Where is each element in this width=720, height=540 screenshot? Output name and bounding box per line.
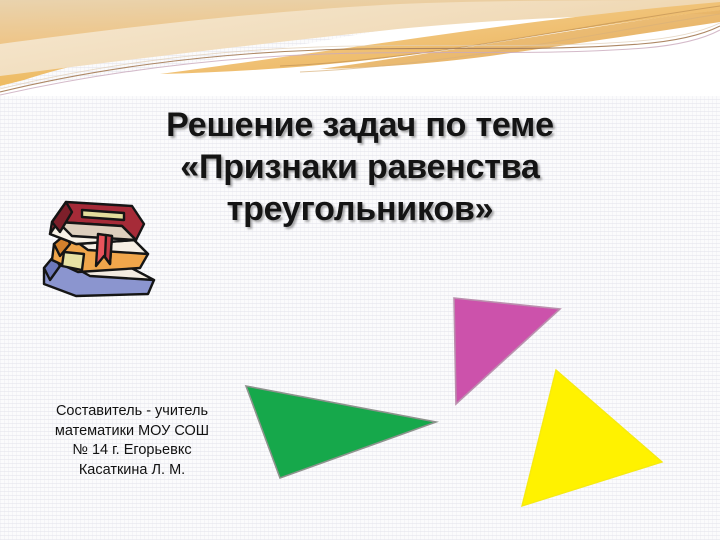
top-book-label xyxy=(82,210,124,220)
triangle-green-polygon xyxy=(246,386,436,478)
author-line-2: математики МОУ СОШ xyxy=(18,422,246,442)
stack-of-books-icon xyxy=(36,190,160,306)
author-line-1: Составитель - учитель xyxy=(18,402,246,422)
title-line-1: Решение задач по теме xyxy=(110,104,610,146)
decorative-wave-banner xyxy=(0,0,720,96)
middle-book-band xyxy=(62,252,84,270)
author-line-3: № 14 г. Егорьевкс xyxy=(18,441,246,461)
title-line-3: треугольников» xyxy=(110,188,610,230)
author-line-4: Касаткина Л. М. xyxy=(18,461,246,481)
slide-title: Решение задач по теме «Признаки равенств… xyxy=(110,104,610,230)
triangle-green xyxy=(238,378,444,486)
title-line-2: «Признаки равенства xyxy=(110,146,610,188)
triangle-yellow-polygon xyxy=(522,370,662,506)
presentation-slide: Решение задач по теме «Признаки равенств… xyxy=(0,0,720,540)
author-credit: Составитель - учитель математики МОУ СОШ… xyxy=(18,402,246,480)
triangle-yellow xyxy=(510,362,670,514)
bookmark-ribbon-shade xyxy=(105,235,112,264)
